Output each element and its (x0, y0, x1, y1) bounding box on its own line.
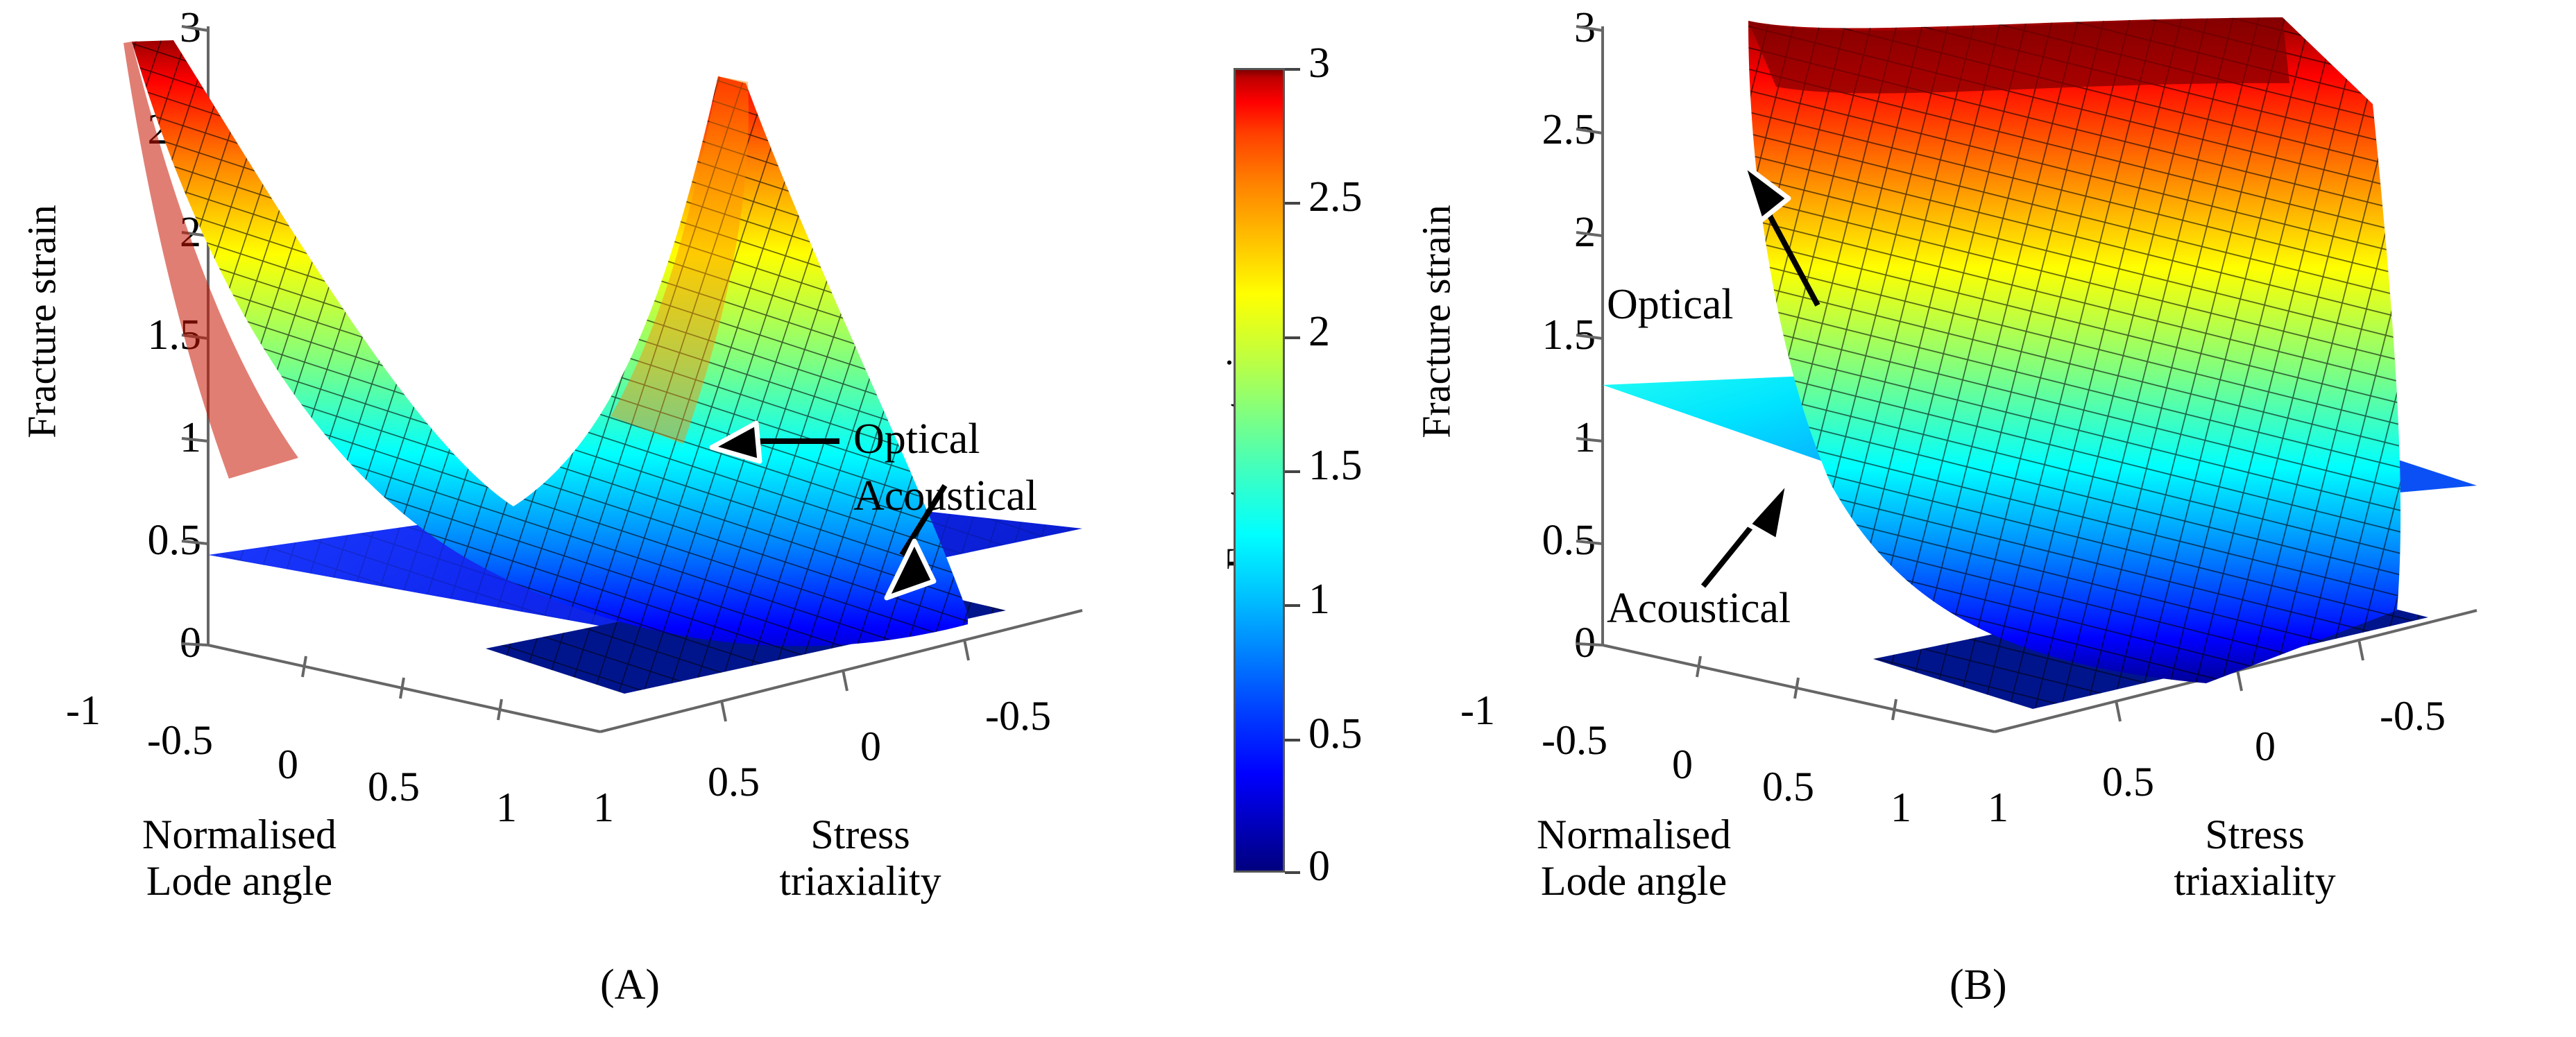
y-tick-a-0.5: 0.5 (708, 758, 760, 806)
annotation-arrow-acoustical-b (1703, 480, 1789, 586)
y-tick-a--0.5: -0.5 (985, 692, 1051, 740)
y-tick-a-0: 0 (860, 723, 881, 771)
panel-caption-a: (A) (600, 961, 660, 1010)
y-tick-b-0.5: 0.5 (2102, 758, 2154, 806)
annotation-acoustical-a: Acoustical (853, 472, 1037, 521)
y-axis-name-a-line1: Stress (711, 812, 1009, 858)
colorbar-tick-0 (1285, 871, 1300, 874)
x-tick-b--0.5: -0.5 (1542, 717, 1607, 764)
colorbar-tick-1.5 (1285, 470, 1300, 473)
colorbar-tick-2 (1285, 336, 1300, 339)
x-axis-name-b-line2: Lode angle (1471, 858, 1797, 905)
y-tick-b--0.5: -0.5 (2380, 692, 2446, 740)
x-tick-a--0.5: -0.5 (147, 717, 213, 764)
colorbar-tick-3 (1285, 68, 1300, 71)
surface-scene-a (0, 0, 1179, 929)
panel-a: Fracture strain 3 2.5 2 1.5 1 0.5 0 (0, 0, 1179, 1037)
x-tick-b-1: 1 (1891, 784, 1911, 832)
y-axis-name-b-line2: triaxiality (2106, 858, 2404, 905)
colorbar-tick-0.5 (1285, 739, 1300, 742)
annotation-optical-b: Optical (1607, 280, 1734, 329)
colorbar-value-0: 0 (1308, 842, 1330, 891)
optical-surface-b (1721, 7, 2428, 694)
colorbar-value-3: 3 (1308, 39, 1330, 88)
x-tick-a-0.5: 0.5 (368, 763, 420, 811)
x-axis-name-a-line2: Lode angle (76, 858, 402, 905)
x-tick-b-0.5: 0.5 (1762, 763, 1814, 811)
colorbar-value-0.5: 0.5 (1308, 710, 1363, 759)
x-axis-name-a-line1: Normalised (76, 812, 402, 858)
colorbar-value-2: 2 (1308, 307, 1330, 357)
y-axis-name-a-line2: triaxiality (711, 858, 1009, 905)
y-axis-name-b: Stress triaxiality (2106, 812, 2404, 905)
plot-a: Fracture strain 3 2.5 2 1.5 1 0.5 0 (0, 0, 1179, 929)
colorbar-value-1: 1 (1308, 575, 1330, 624)
x-tick-a--1: -1 (66, 687, 101, 735)
colorbar-gradient (1234, 68, 1285, 873)
colorbar-value-1.5: 1.5 (1308, 441, 1363, 490)
x-axis-name-a: Normalised Lode angle (76, 812, 402, 905)
x-axis-name-b: Normalised Lode angle (1471, 812, 1797, 905)
panel-b: Fracture strain 3 2.5 2 1.5 1 0.5 0 (1388, 0, 2576, 1037)
colorbar-group: Fracture strain 3 2.5 2 1.5 1 0.5 0 (1179, 0, 1388, 1037)
x-axis-name-b-line1: Normalised (1471, 812, 1797, 858)
colorbar-tick-2.5 (1285, 202, 1300, 205)
colorbar-value-2.5: 2.5 (1308, 173, 1363, 222)
y-tick-a-1: 1 (593, 784, 614, 832)
y-tick-b-1: 1 (1988, 784, 2008, 832)
panel-caption-b: (B) (1950, 961, 2007, 1010)
x-tick-a-0: 0 (278, 741, 298, 789)
y-tick-b-0: 0 (2255, 723, 2276, 771)
colorbar-tick-1 (1285, 604, 1300, 607)
surface-scene-b (1388, 0, 2576, 929)
y-axis-name-a: Stress triaxiality (711, 812, 1009, 905)
x-tick-b-0: 0 (1672, 741, 1693, 789)
x-tick-a-1: 1 (496, 784, 517, 832)
annotation-optical-a: Optical (853, 415, 980, 464)
y-axis-name-b-line1: Stress (2106, 812, 2404, 858)
plot-b: Fracture strain 3 2.5 2 1.5 1 0.5 0 (1388, 0, 2576, 929)
annotation-acoustical-b: Acoustical (1607, 584, 1791, 633)
x-tick-b--1: -1 (1460, 687, 1495, 735)
